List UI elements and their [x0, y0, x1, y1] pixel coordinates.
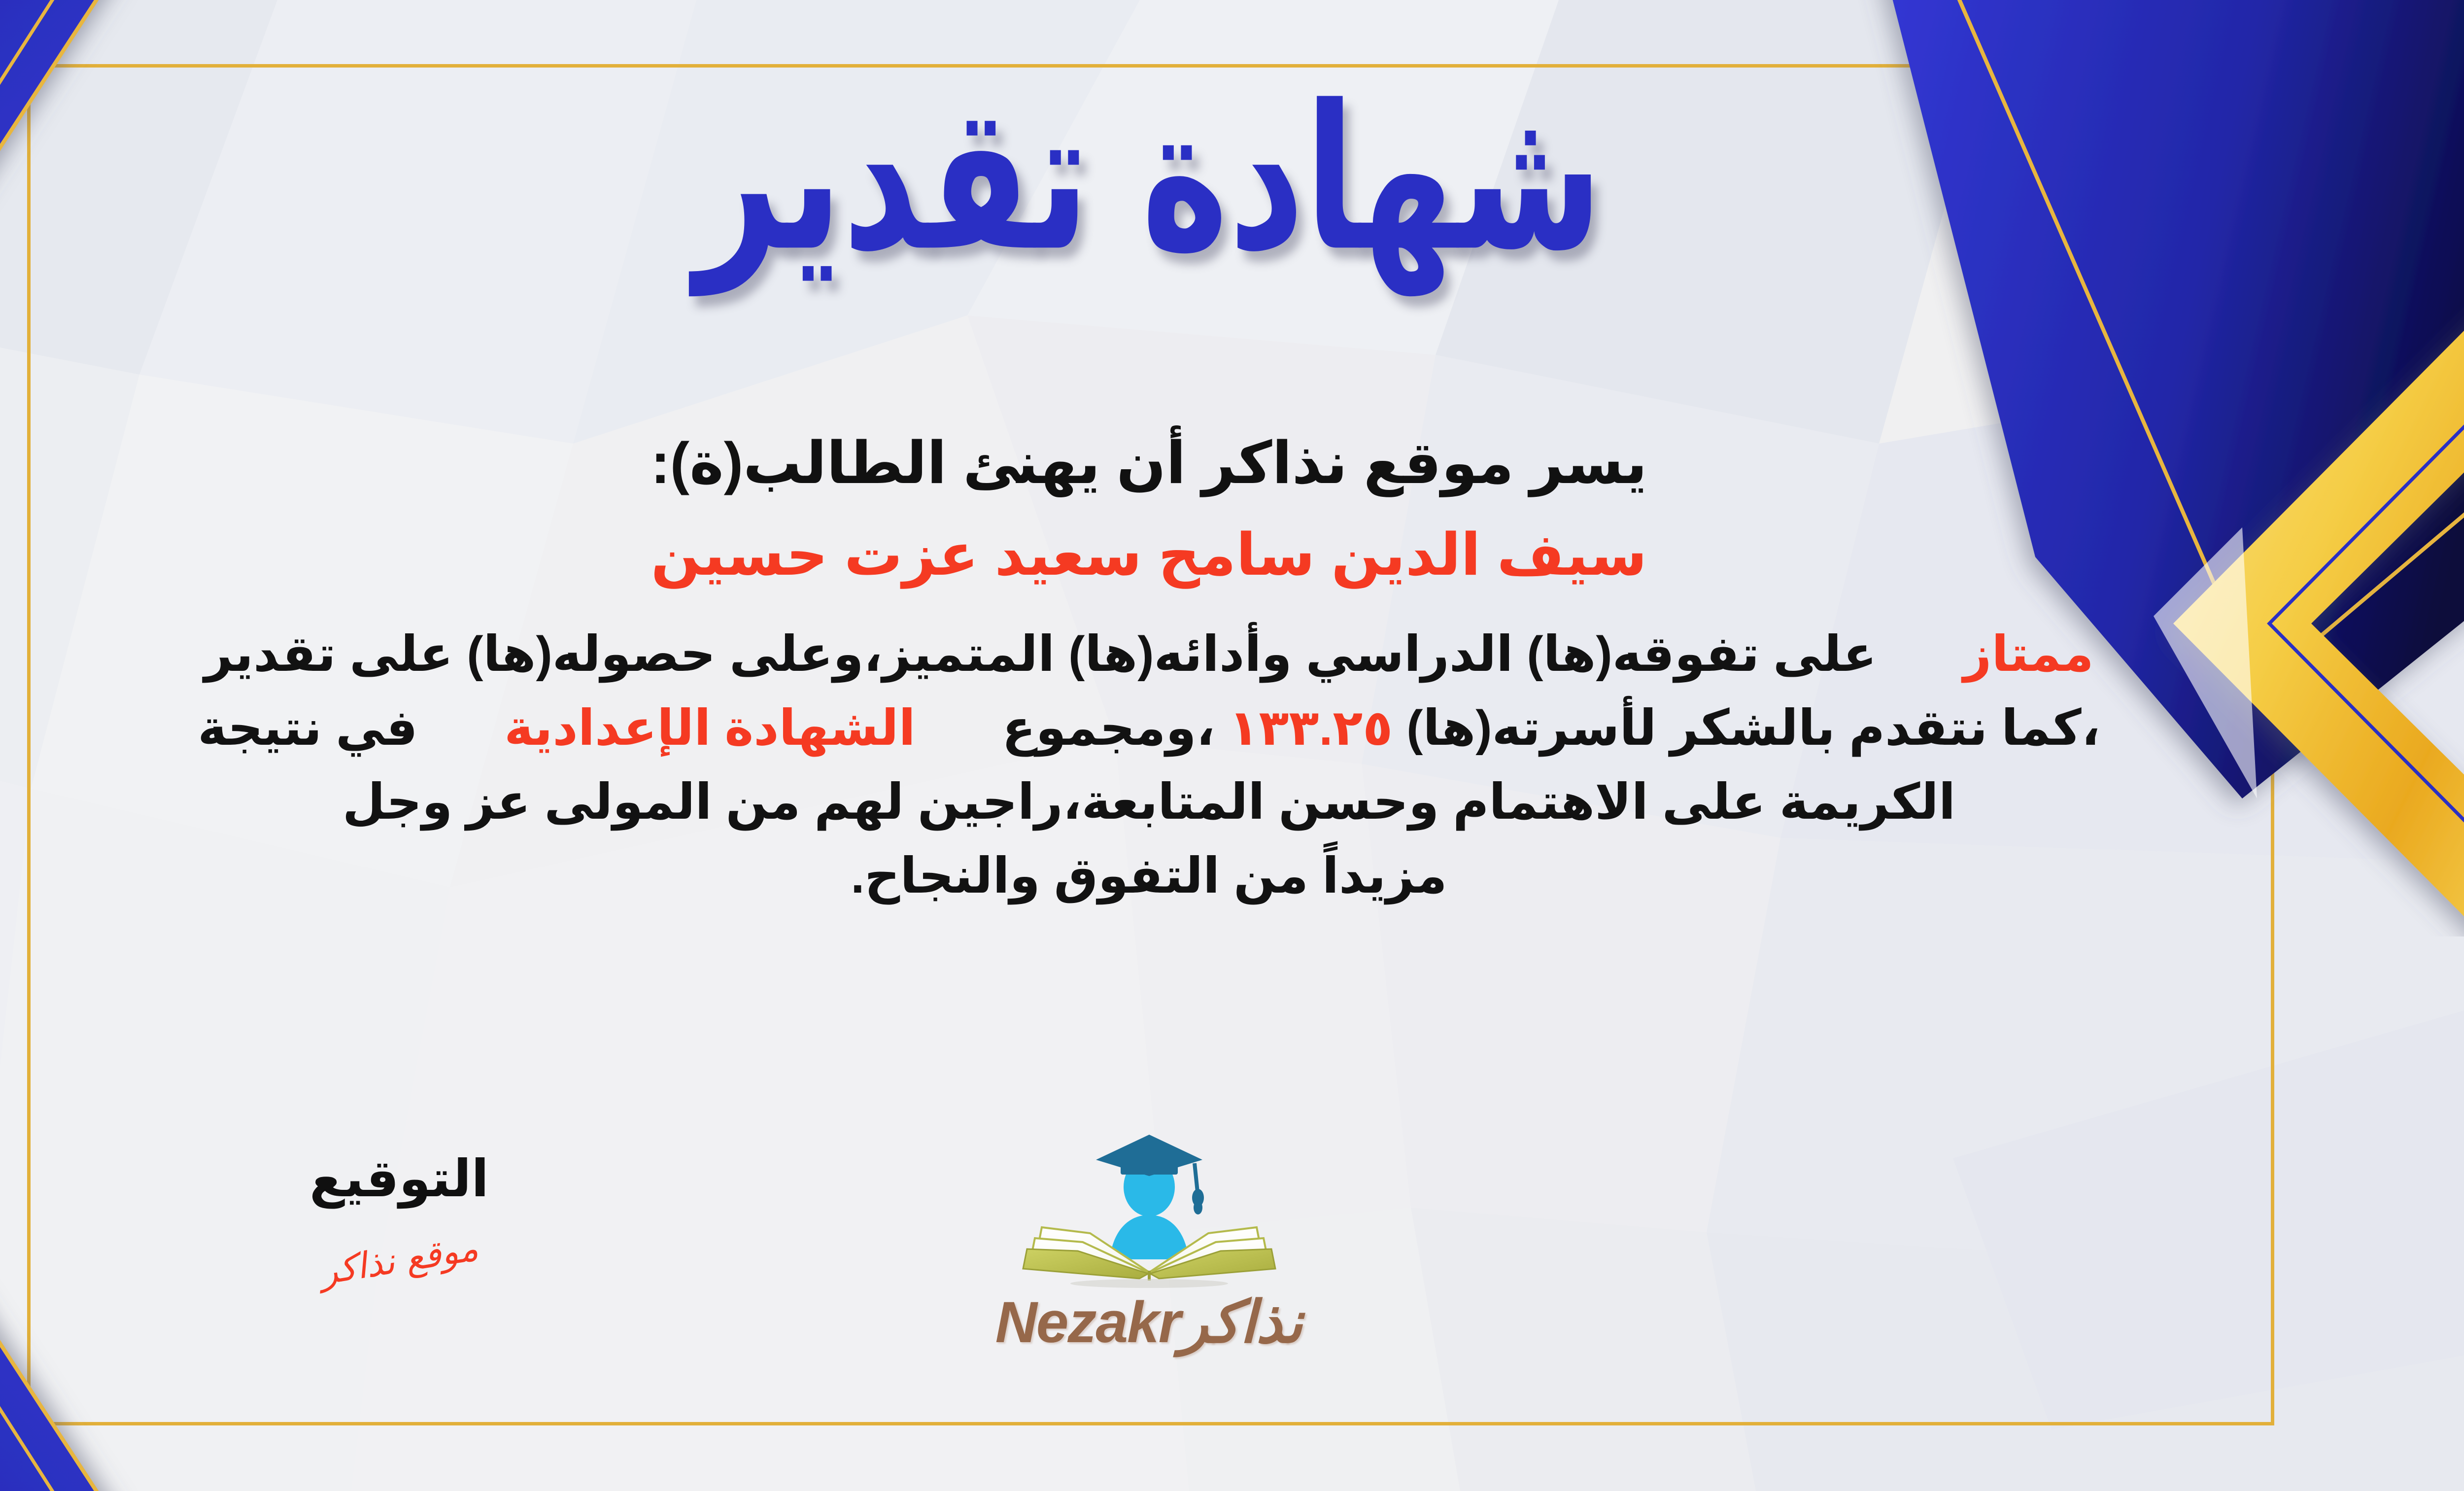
brand-logo: نذاكرNezakr — [927, 1129, 1371, 1356]
exam-name-value: الشهادة الإعدادية — [504, 700, 916, 756]
certificate-page: شهادة تقدير يسر موقع نذاكر أن يهنئ الطال… — [0, 0, 2464, 1491]
citation-line-3: الكريمة على الاهتمام وحسن المتابعة،راجين… — [0, 765, 2341, 839]
brand-name-latin: Nezakr — [995, 1290, 1180, 1355]
citation-line-2-head: في نتيجة — [198, 700, 417, 756]
citation-line-2-tail: ،كما نتقدم بالشكر لأسرته(ها) — [1406, 700, 2100, 756]
signature-block: التوقيع موقع نذاكر — [246, 1148, 552, 1281]
grade-value: ممتاز — [1963, 626, 2094, 682]
certificate-title-area: شهادة تقدير — [0, 74, 2464, 229]
page-title: شهادة تقدير — [695, 74, 1603, 283]
signature-label: التوقيع — [246, 1148, 552, 1209]
brand-wordmark: نذاكرNezakr — [927, 1288, 1371, 1356]
citation-paragraph: ممتاز على تفوقه(ها) الدراسي وأدائه(ها) ا… — [0, 617, 2341, 913]
total-score-value: ١٣٣.٢٥ — [1229, 700, 1393, 756]
citation-line-1-text: على تفوقه(ها) الدراسي وأدائه(ها) المتميز… — [204, 626, 1877, 682]
certificate-body: يسر موقع نذاكر أن يهنئ الطالب(ة): سيف ال… — [0, 429, 2341, 913]
citation-line-4: مزيداً من التفوق والنجاح. — [0, 839, 2341, 913]
graduate-book-icon — [1011, 1129, 1287, 1291]
citation-line-2-mid: ،ومجموع — [1002, 700, 1215, 756]
brand-name-arabic: نذاكر — [1180, 1290, 1303, 1355]
citation-line-2: ،كما نتقدم بالشكر لأسرته(ها) ١٣٣.٢٥ ،ومج… — [0, 691, 2341, 765]
citation-line-1: ممتاز على تفوقه(ها) الدراسي وأدائه(ها) ا… — [0, 617, 2341, 691]
intro-line: يسر موقع نذاكر أن يهنئ الطالب(ة): — [0, 429, 2341, 497]
student-name: سيف الدين سامح سعيد عزت حسين — [0, 520, 2341, 589]
